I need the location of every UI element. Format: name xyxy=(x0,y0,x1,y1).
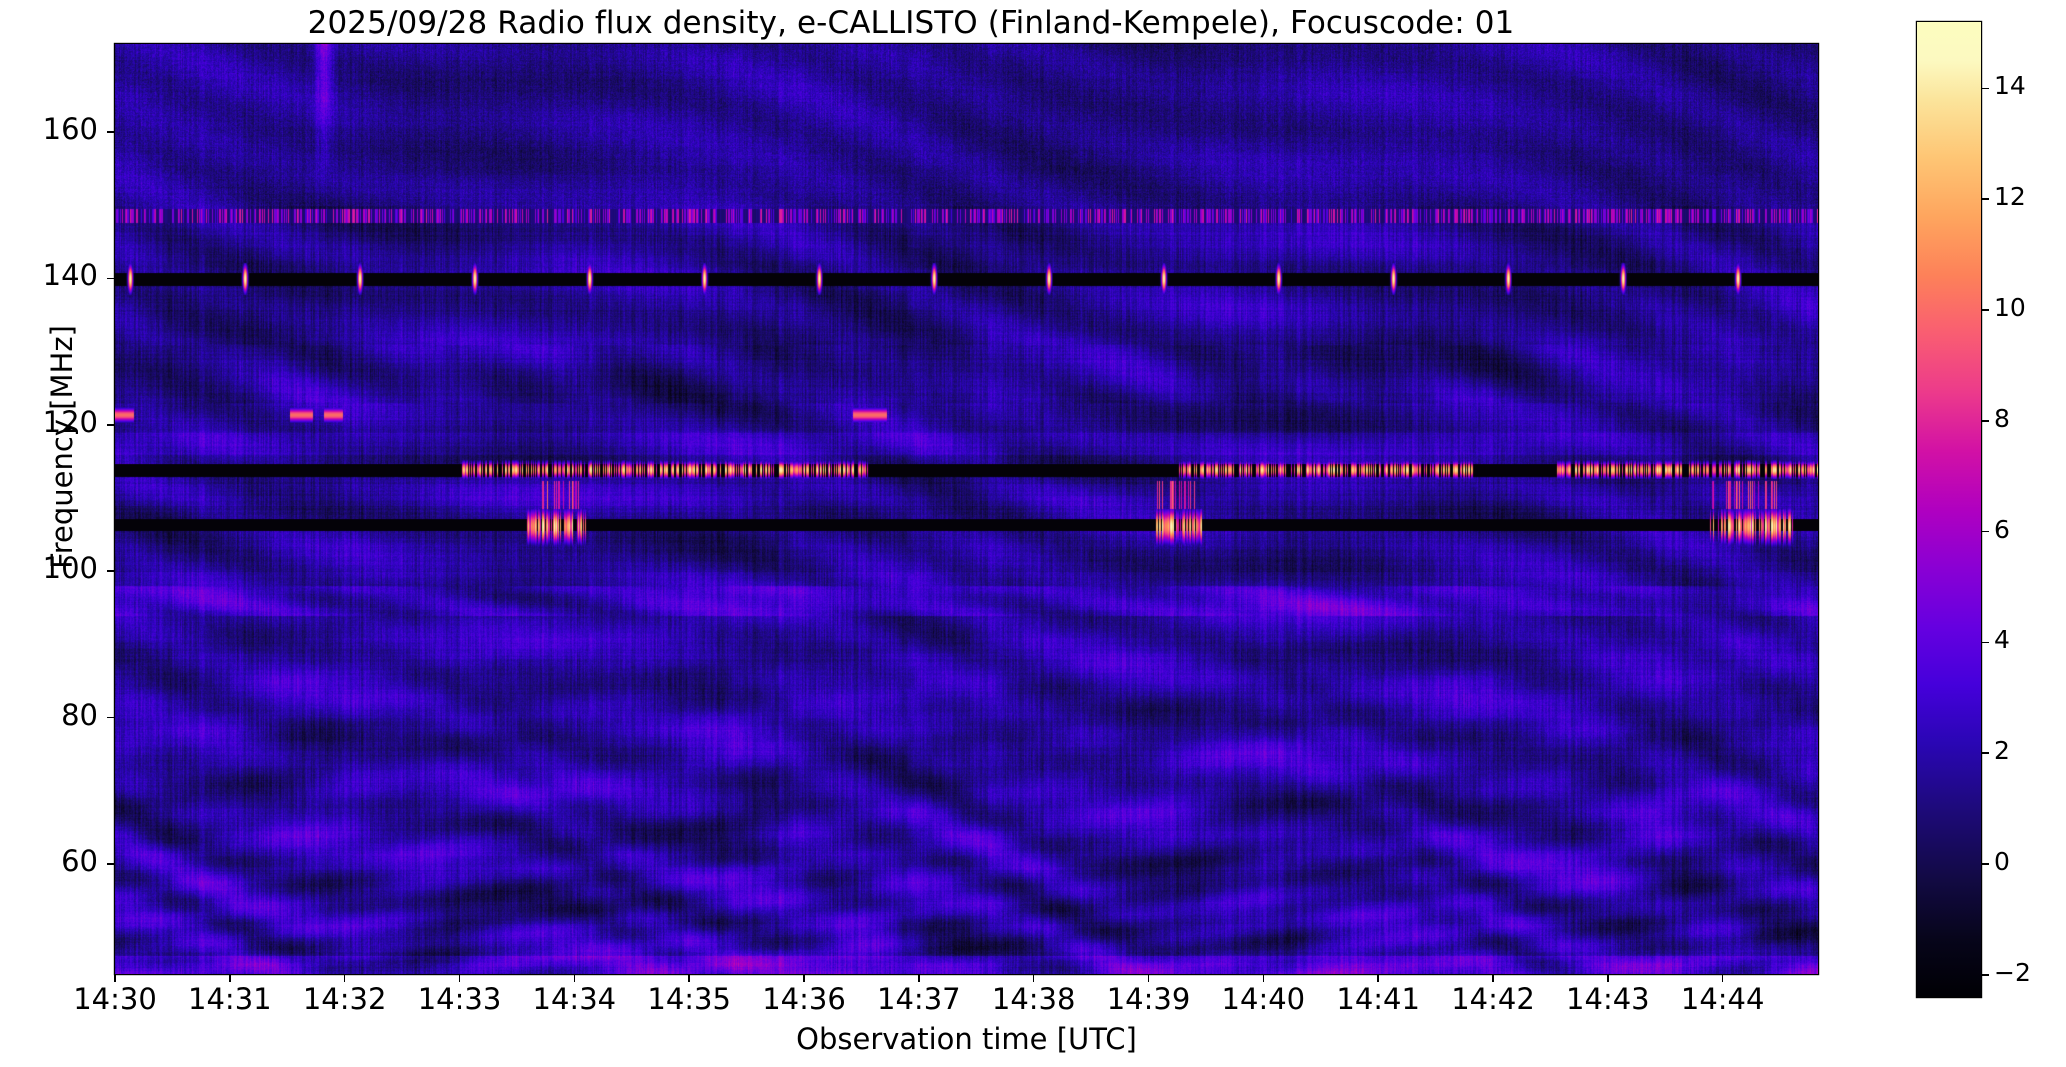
colorbar-tick-label: 14 xyxy=(1994,71,2026,100)
colorbar-tick-label: 8 xyxy=(1994,404,2010,433)
x-tick-mark xyxy=(344,974,346,982)
x-axis-label: Observation time [UTC] xyxy=(115,1022,1818,1056)
colorbar-tick-mark xyxy=(1981,198,1989,200)
colorbar-tick-mark xyxy=(1981,863,1989,865)
y-tick-mark xyxy=(107,278,115,280)
x-tick-mark xyxy=(574,974,576,982)
colorbar-tick-label: 10 xyxy=(1994,293,2026,322)
y-tick-label: 160 xyxy=(0,112,98,146)
colorbar-tick-label: 0 xyxy=(1994,847,2010,876)
colorbar-tick-mark xyxy=(1981,642,1989,644)
x-tick-mark xyxy=(1492,974,1494,982)
y-tick-mark xyxy=(107,131,115,133)
x-tick-mark xyxy=(803,974,805,982)
x-tick-mark xyxy=(1607,974,1609,982)
y-tick-mark xyxy=(107,717,115,719)
spectrogram-image xyxy=(115,44,1818,974)
y-tick-label: 120 xyxy=(0,405,98,439)
colorbar-tick-mark xyxy=(1981,752,1989,754)
colorbar-tick-label: −2 xyxy=(1994,958,2031,987)
x-tick-mark xyxy=(1263,974,1265,982)
spectrogram-plot-area xyxy=(115,44,1818,974)
colorbar-tick-mark xyxy=(1981,420,1989,422)
figure-title: 2025/09/28 Radio flux density, e-CALLIST… xyxy=(0,5,1822,41)
y-tick-mark xyxy=(107,424,115,426)
colorbar-tick-mark xyxy=(1981,974,1989,976)
y-tick-mark xyxy=(107,570,115,572)
x-tick-mark xyxy=(1033,974,1035,982)
spectrogram-figure: 2025/09/28 Radio flux density, e-CALLIST… xyxy=(0,0,2066,1067)
colorbar-tick-mark xyxy=(1981,88,1989,90)
x-tick-mark xyxy=(1377,974,1379,982)
x-tick-mark xyxy=(918,974,920,982)
y-tick-label: 80 xyxy=(0,698,98,732)
x-tick-mark xyxy=(459,974,461,982)
x-tick-mark xyxy=(1148,974,1150,982)
y-tick-label: 60 xyxy=(0,844,98,878)
x-tick-label: 14:44 xyxy=(1643,982,1803,1016)
colorbar-tick-label: 12 xyxy=(1994,182,2026,211)
colorbar xyxy=(1917,22,1981,997)
y-tick-label: 100 xyxy=(0,551,98,585)
x-tick-mark xyxy=(114,974,116,982)
x-tick-mark xyxy=(229,974,231,982)
colorbar-tick-mark xyxy=(1981,531,1989,533)
colorbar-tick-mark xyxy=(1981,309,1989,311)
x-tick-mark xyxy=(688,974,690,982)
y-tick-mark xyxy=(107,863,115,865)
colorbar-tick-label: 6 xyxy=(1994,515,2010,544)
y-tick-label: 140 xyxy=(0,258,98,292)
x-tick-mark xyxy=(1722,974,1724,982)
colorbar-tick-label: 2 xyxy=(1994,736,2010,765)
colorbar-tick-label: 4 xyxy=(1994,625,2010,654)
